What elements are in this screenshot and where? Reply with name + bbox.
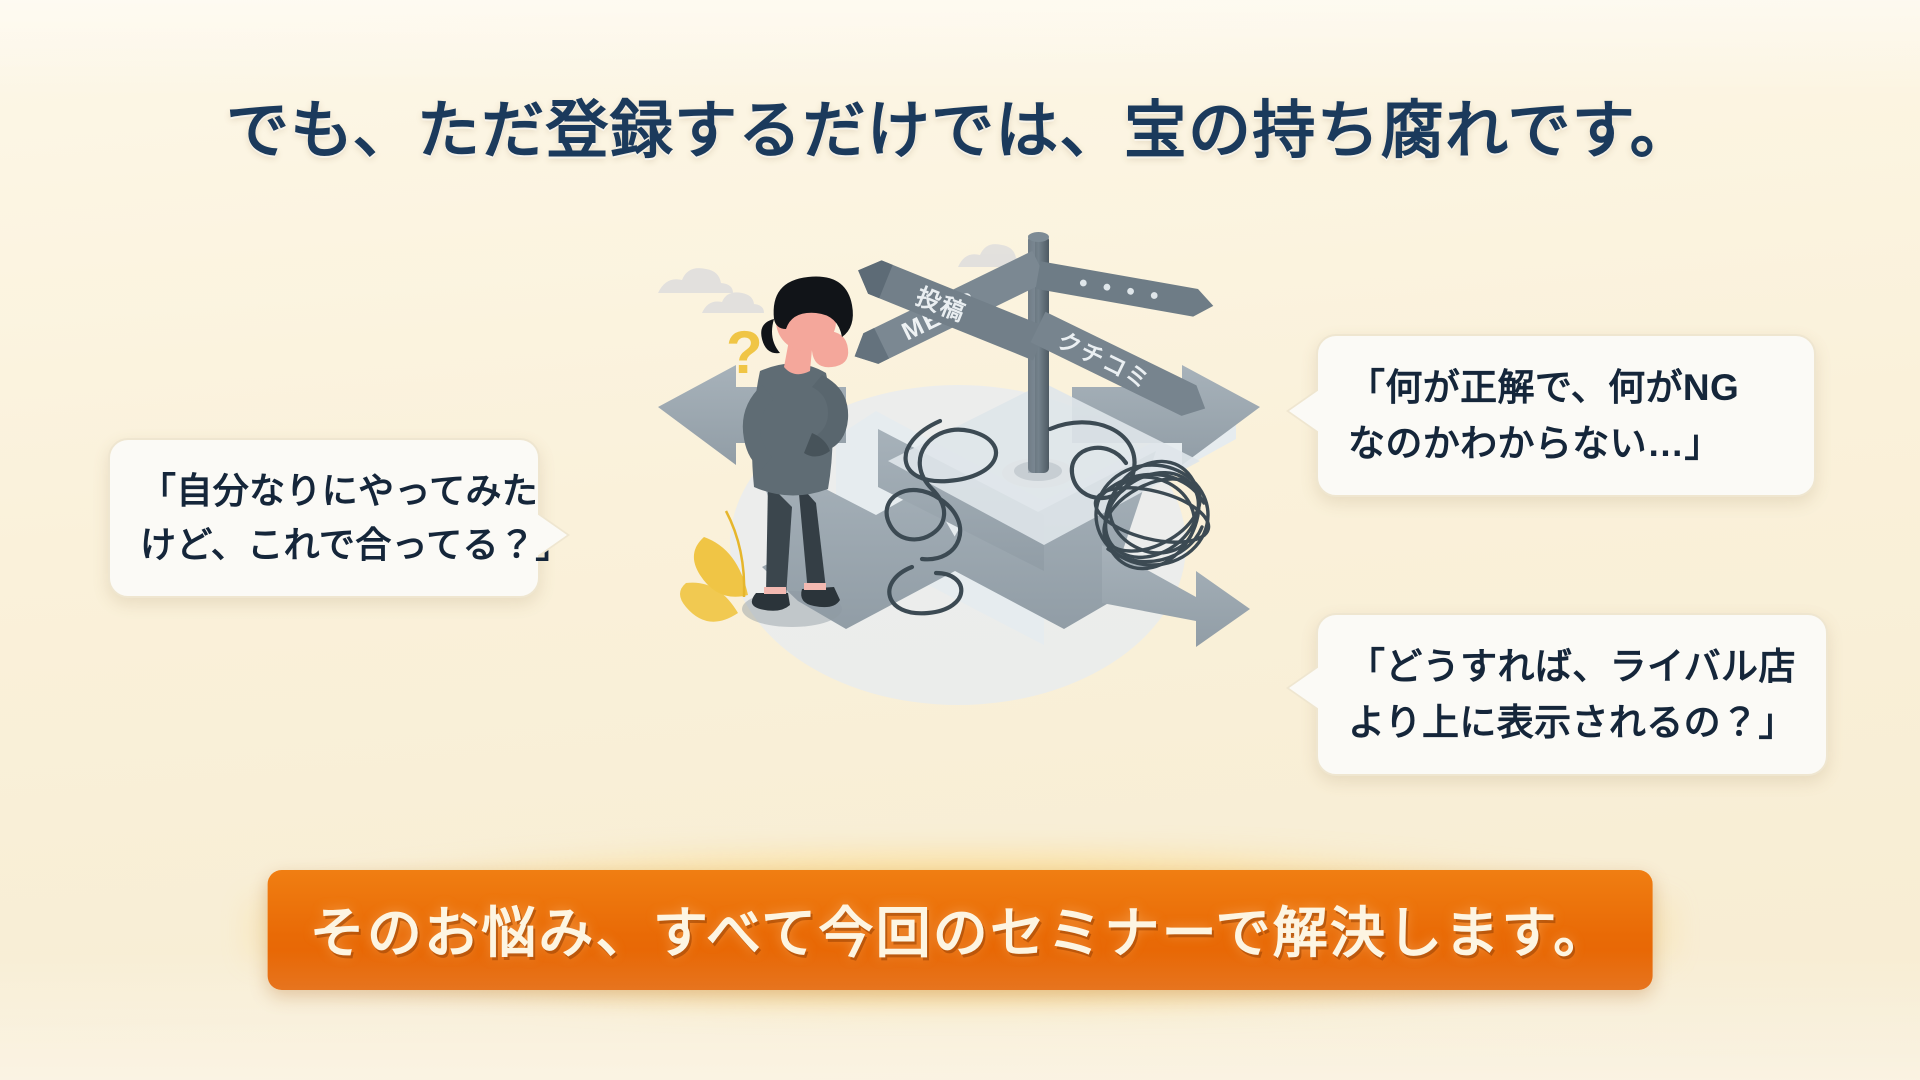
sign-dotted: [1036, 261, 1216, 319]
bubble-right-top-line-1: 「何が正解で、何がNG: [1348, 360, 1784, 416]
slide-root: でも、ただ登録するだけでは、宝の持ち腐れです。: [0, 0, 1920, 1080]
page-title: でも、ただ登録するだけでは、宝の持ち腐れです。: [0, 80, 1920, 171]
crossroads-illustration: MEO? 投稿: [640, 215, 1280, 715]
bubble-right-bottom-line-1: 「どうすれば、ライバル店: [1348, 639, 1796, 695]
bubble-left-line-2: けど、これで合ってる？」: [140, 518, 508, 572]
speech-bubble-right-bottom: 「どうすれば、ライバル店 より上に表示されるの？」: [1316, 613, 1828, 776]
bubble-tail-icon: [537, 514, 567, 556]
bubble-right-top-line-2: なのかわからない…」: [1348, 416, 1784, 472]
cta-banner-text: そのお悩み、すべて今回のセミナーで解決します。: [310, 888, 1611, 968]
cloud-icon: [658, 268, 764, 313]
bubble-right-bottom-line-2: より上に表示されるの？」: [1348, 695, 1796, 751]
speech-bubble-right-top: 「何が正解で、何がNG なのかわからない…」: [1316, 334, 1816, 497]
bubble-tail-icon: [1289, 390, 1319, 432]
question-mark-icon: ?: [726, 319, 763, 386]
bubble-left-line-1: 「自分なりにやってみた: [140, 464, 508, 518]
cta-banner[interactable]: そのお悩み、すべて今回のセミナーで解決します。: [268, 870, 1653, 990]
cta-banner-wrapper: そのお悩み、すべて今回のセミナーで解決します。: [268, 870, 1653, 990]
speech-bubble-left: 「自分なりにやってみた けど、これで合ってる？」: [108, 438, 540, 598]
bubble-tail-icon: [1289, 667, 1319, 709]
